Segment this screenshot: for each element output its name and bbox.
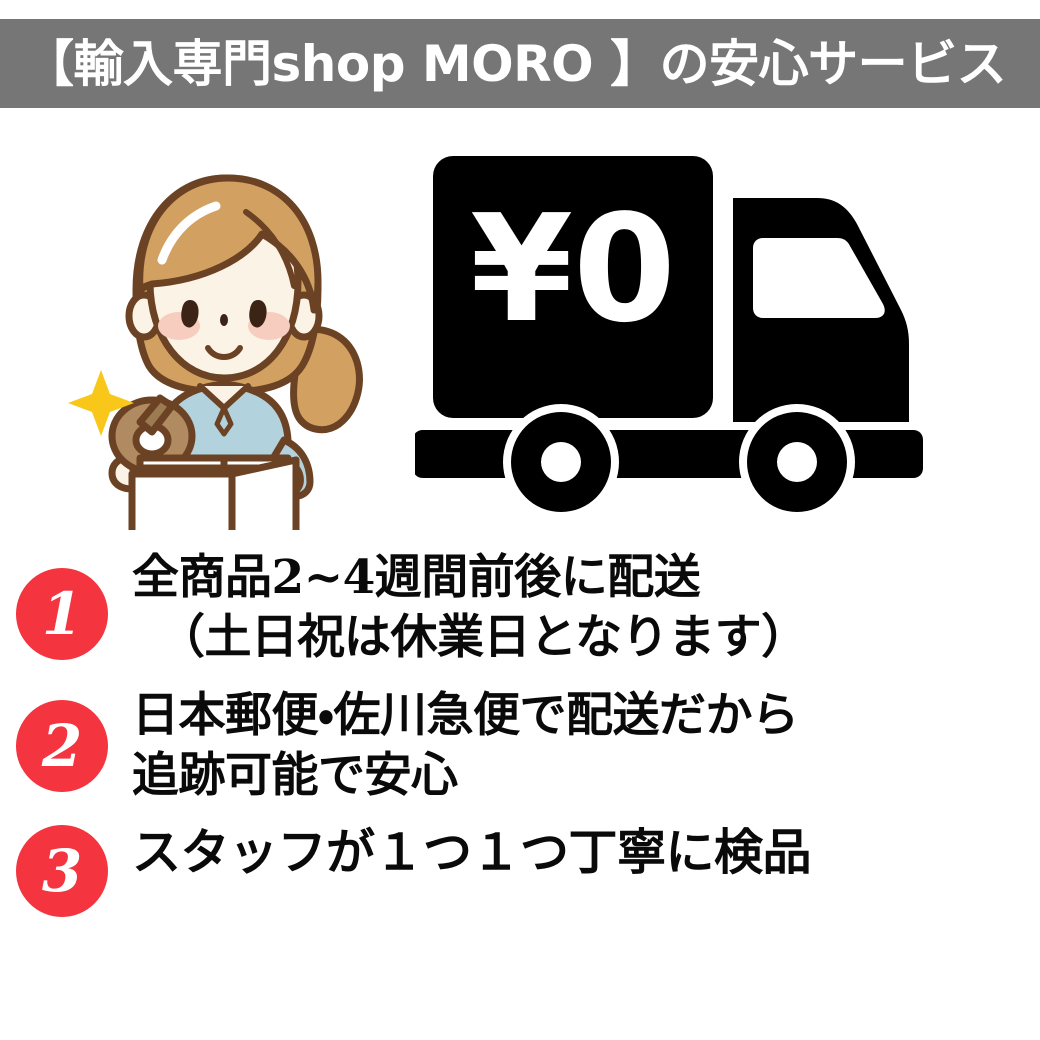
box-front	[132, 474, 232, 530]
woman-illustration-svg	[40, 140, 400, 530]
badge-1: 1	[14, 566, 110, 662]
truck-wheel-rear-hub	[541, 442, 581, 482]
list-item-line2: 追跡可能で安心	[132, 746, 1040, 806]
page-title: 【輸入専門shop MORO 】の安心サービス	[0, 39, 1006, 89]
truck-illustration-svg: ¥0	[415, 140, 1025, 530]
box-side	[232, 460, 296, 530]
list-item-text: 全商品2~4週間前後に配送 （土日祝は休業日となります）	[110, 548, 1040, 668]
list-item-text: スタッフが１つ１つ丁寧に検品	[110, 821, 1040, 884]
truck-wheel-front-hub	[777, 442, 817, 482]
badge-number: 1	[14, 566, 110, 662]
woman-inspecting-package-illustration	[40, 140, 400, 530]
nose	[220, 314, 228, 326]
service-list: 1 全商品2~4週間前後に配送 （土日祝は休業日となります） 2 日本郵便・佐川…	[0, 548, 1040, 925]
list-item-text: 日本郵便・佐川急便で配送だから 追跡可能で安心	[110, 686, 1040, 806]
box-flap-left	[140, 458, 224, 468]
list-item-line1: スタッフが１つ１つ丁寧に検品	[132, 823, 811, 881]
list-item: 3 スタッフが１つ１つ丁寧に検品	[0, 821, 1040, 919]
badge-3: 3	[14, 823, 110, 919]
header-bar: 【輸入専門shop MORO 】の安心サービス	[0, 19, 1040, 108]
badge-number: 2	[14, 698, 110, 794]
list-item-line1: 全商品2~4週間前後に配送	[132, 550, 700, 605]
free-shipping-truck-illustration: ¥0	[415, 140, 1025, 530]
list-item-line1: 日本郵便・佐川急便で配送だから	[132, 688, 798, 743]
service-banner: 【輸入専門shop MORO 】の安心サービス	[0, 0, 1040, 1040]
badge-2: 2	[14, 698, 110, 794]
truck-price-label: ¥0	[470, 183, 676, 355]
list-item-line2: （土日祝は休業日となります）	[132, 608, 1040, 668]
list-item: 1 全商品2~4週間前後に配送 （土日祝は休業日となります）	[0, 548, 1040, 668]
list-item: 2 日本郵便・佐川急便で配送だから 追跡可能で安心	[0, 686, 1040, 806]
illustration-band: ¥0	[0, 120, 1040, 540]
badge-number: 3	[14, 823, 110, 919]
